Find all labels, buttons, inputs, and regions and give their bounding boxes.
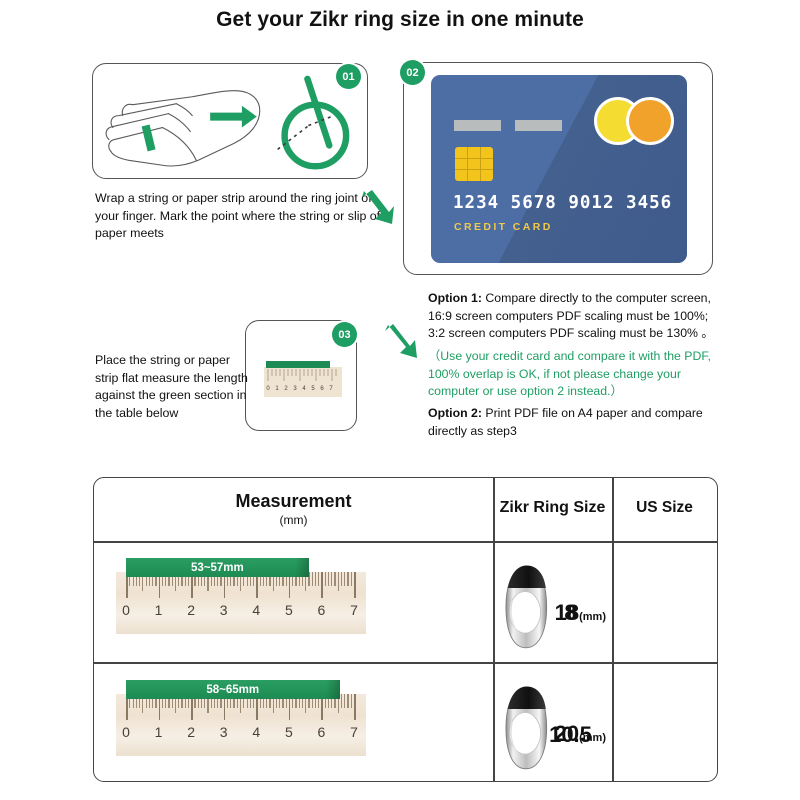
ruler-tick-label: 2 (187, 724, 195, 740)
ruler-tick-label: 1 (155, 602, 163, 618)
ruler-icon: 012 345 67 (264, 357, 342, 397)
option-2-text: Option 2: Print PDF file on A4 paper and… (428, 405, 718, 440)
ruler-tick (318, 572, 319, 586)
size-table: Measurement (mm) Zikr Ring Size US Size … (93, 477, 718, 782)
us-size-value: 8 (518, 600, 623, 626)
step-1-panel (92, 63, 368, 179)
ruler-tick (321, 572, 323, 598)
ruler-tick-label: 2 (187, 602, 195, 618)
card-number: 1234 5678 9012 3456 (453, 193, 673, 213)
step-3-text: Place the string or paper strip flat mea… (95, 352, 255, 422)
card-chip-icon (455, 147, 493, 181)
ruler-tick (334, 572, 335, 586)
ruler-body: 01234567 (116, 694, 366, 756)
ruler-tick (341, 572, 342, 586)
table-row: 0123456758~65mm (116, 680, 366, 756)
ruler-tick (328, 572, 329, 586)
column-header-measurement-unit: (mm) (94, 513, 493, 527)
column-header-ring-size: Zikr Ring Size (493, 499, 612, 517)
measurement-range-bar: 53~57mm (126, 558, 309, 577)
step-badge-03: 03 (332, 322, 357, 347)
measurement-range-bar: 58~65mm (126, 680, 340, 699)
ruler-tick (338, 572, 339, 591)
card-type-label: CREDIT CARD (454, 221, 553, 233)
ruler-tick-label: 3 (220, 724, 228, 740)
option-2-label: Option 2: (428, 406, 482, 420)
arrow-down-right-icon (358, 188, 396, 226)
ruler-tick (354, 572, 356, 598)
ruler-tick (344, 694, 345, 708)
option-1-label: Option 1: (428, 291, 482, 305)
ruler-tick-label: 4 (252, 724, 260, 740)
ruler-tick-label: 6 (318, 602, 326, 618)
ruler-tick-label: 4 (252, 602, 260, 618)
ruler-tick (325, 572, 326, 586)
string-loop-icon (278, 79, 346, 166)
column-header-measurement-label: Measurement (235, 491, 351, 511)
step-1-text: Wrap a string or paper strip around the … (95, 190, 385, 243)
ruler-tick-label: 0 (122, 724, 130, 740)
table-divider (94, 541, 717, 543)
ruler-tick-label: 7 (350, 724, 358, 740)
step-badge-02: 02 (400, 60, 425, 85)
column-header-us-size: US Size (612, 499, 717, 517)
option-1-text: Option 1: Compare directly to the comput… (428, 290, 718, 343)
ruler-tick-label: 7 (350, 602, 358, 618)
ruler-tick-label: 6 (318, 724, 326, 740)
ruler-tick-label: 3 (220, 602, 228, 618)
us-size-value: 10.5 (518, 722, 623, 748)
step-badge-01: 01 (336, 64, 361, 89)
card-stripe (454, 120, 501, 131)
ruler-tick-label: 5 (285, 602, 293, 618)
ruler-tick-label: 1 (155, 724, 163, 740)
column-header-measurement: Measurement (mm) (94, 491, 493, 527)
option-note-text: （Use your credit card and compare it wit… (428, 348, 718, 401)
table-divider (94, 662, 717, 664)
page-title: Get your Zikr ring size in one minute (0, 8, 800, 32)
ruler-tick (312, 572, 313, 586)
ruler-tick (331, 572, 332, 586)
size-guide-page: Get your Zikr ring size in one minute (0, 0, 800, 800)
ruler-tick-label: 0 (122, 602, 130, 618)
ruler-tick (351, 694, 352, 708)
ruler-tick (351, 572, 352, 586)
ruler-tick (344, 572, 345, 586)
ruler-tick (347, 694, 348, 708)
arrow-down-left-icon (381, 323, 421, 363)
ruler-body: 01234567 (116, 572, 366, 634)
credit-card-illustration: 1234 5678 9012 3456 CREDIT CARD (431, 75, 687, 263)
ruler-tick-label: 5 (285, 724, 293, 740)
ruler-tick (341, 694, 342, 708)
ruler-tick (315, 572, 316, 586)
hand-icon (93, 64, 367, 179)
ruler-tick (347, 572, 348, 586)
card-stripe (515, 120, 562, 131)
card-network-logo (594, 97, 674, 145)
ruler-tick (354, 694, 356, 720)
table-row: 0123456753~57mm (116, 558, 366, 634)
step-2-panel: 1234 5678 9012 3456 CREDIT CARD (403, 62, 713, 275)
